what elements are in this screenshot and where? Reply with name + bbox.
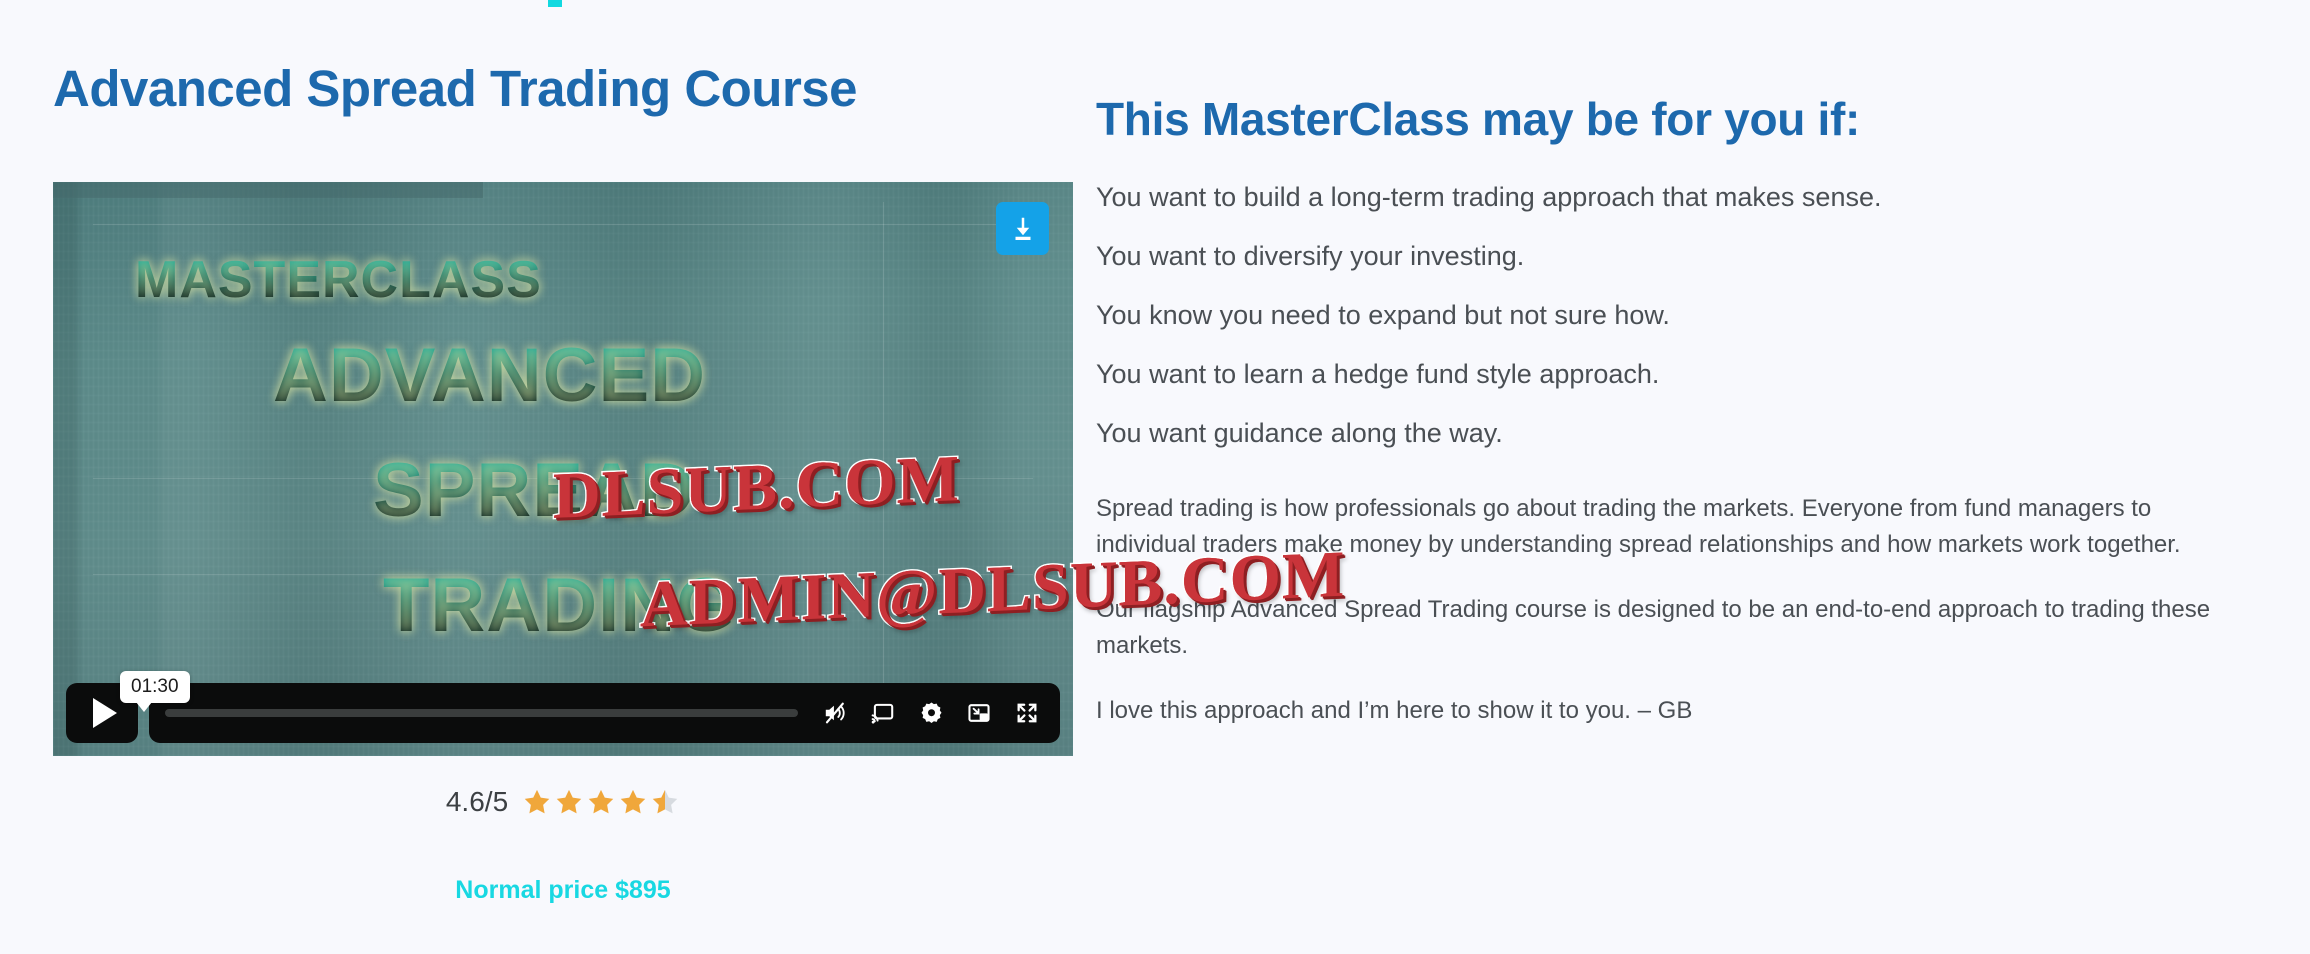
video-control-bar — [149, 683, 1060, 743]
video-progress-bar[interactable] — [165, 709, 798, 717]
page-title: Advanced Spread Trading Course — [53, 62, 1073, 116]
right-column: This MasterClass may be for you if: You … — [1096, 92, 2256, 759]
benefit-item: You want to build a long-term trading ap… — [1096, 184, 2256, 211]
page-root: Advanced Spread Trading Course MASTERCLA… — [0, 0, 2310, 954]
thumbnail-chart-line — [93, 574, 1033, 575]
fullscreen-icon[interactable] — [1010, 696, 1044, 730]
star-icon — [618, 787, 648, 817]
play-icon — [93, 698, 117, 728]
video-time-tooltip: 01:30 — [120, 671, 190, 703]
description-paragraph: Our flagship Advanced Spread Trading cou… — [1096, 592, 2216, 665]
picture-in-picture-icon[interactable] — [962, 696, 996, 730]
star-icon — [522, 787, 552, 817]
benefit-item: You want to learn a hedge fund style app… — [1096, 361, 2256, 388]
rating-value: 4.6/5 — [446, 786, 508, 818]
thumbnail-chart-line — [883, 202, 884, 702]
rating-row: 4.6/5 — [53, 786, 1073, 818]
benefit-item: You know you need to expand but not sure… — [1096, 302, 2256, 329]
star-rating — [522, 787, 680, 817]
thumbnail-chart-line — [93, 478, 1033, 479]
masterclass-heading: This MasterClass may be for you if: — [1096, 92, 2256, 146]
benefit-item: You want guidance along the way. — [1096, 420, 2256, 447]
video-controls — [66, 683, 1060, 743]
download-button[interactable] — [996, 202, 1049, 255]
description-paragraph: Spread trading is how professionals go a… — [1096, 491, 2216, 564]
download-icon — [1008, 214, 1038, 244]
description-paragraph: I love this approach and I’m here to sho… — [1096, 693, 2216, 729]
top-cutoff-sliver — [548, 0, 562, 7]
normal-price-label: Normal price $895 — [455, 876, 670, 904]
star-icon — [586, 787, 616, 817]
star-icon — [554, 787, 584, 817]
price-row: Normal price $895 — [53, 876, 1073, 905]
cast-icon[interactable] — [866, 696, 900, 730]
mute-icon[interactable] — [818, 696, 852, 730]
star-half-icon — [650, 787, 680, 817]
thumbnail-chart-toolbar — [53, 182, 483, 198]
benefit-item: You want to diversify your investing. — [1096, 243, 2256, 270]
thumbnail-chart-line — [93, 224, 1033, 225]
video-thumbnail-background — [53, 182, 1073, 756]
video-player[interactable]: MASTERCLASS MASTERCLASS ADVANCED ADVANCE… — [53, 182, 1073, 756]
settings-gear-icon[interactable] — [914, 696, 948, 730]
left-column: Advanced Spread Trading Course — [53, 62, 1073, 116]
